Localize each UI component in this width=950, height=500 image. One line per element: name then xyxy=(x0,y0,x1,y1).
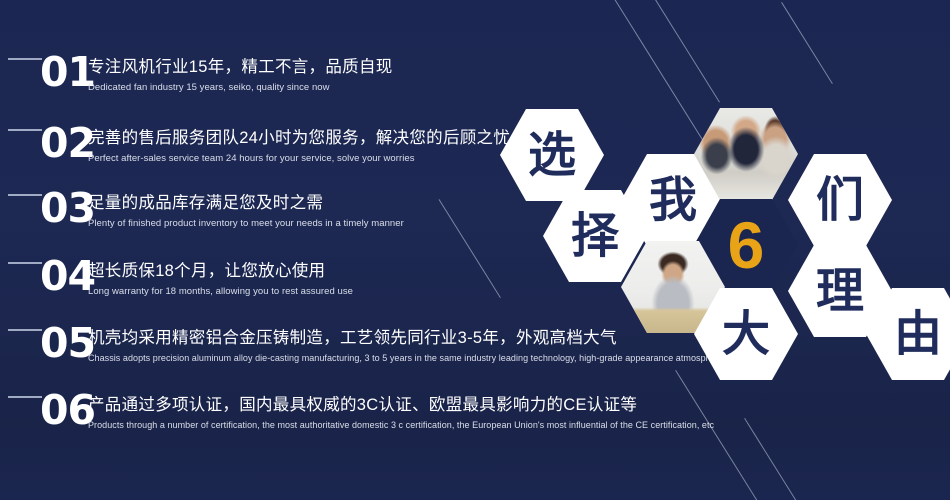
hex-char-li: 理 xyxy=(816,267,864,315)
hex-char-six: 6 xyxy=(728,212,765,278)
hex-cell-men[interactable]: 们 xyxy=(788,154,892,246)
hex-char-da: 大 xyxy=(722,310,770,358)
hex-char-you: 由 xyxy=(894,310,942,358)
hex-char-wo: 我 xyxy=(649,176,697,224)
promo-banner: 01 专注风机行业15年，精工不言，品质自现 Dedicated fan ind… xyxy=(0,0,950,500)
hex-char-ze: 择 xyxy=(571,212,619,260)
hex-char-xuan: 选 xyxy=(528,131,576,179)
hex-cell-xuan[interactable]: 选 xyxy=(500,109,604,201)
hex-cluster: 选 择 我 6 大 们 理 xyxy=(0,0,950,500)
hex-char-men: 们 xyxy=(816,176,864,224)
